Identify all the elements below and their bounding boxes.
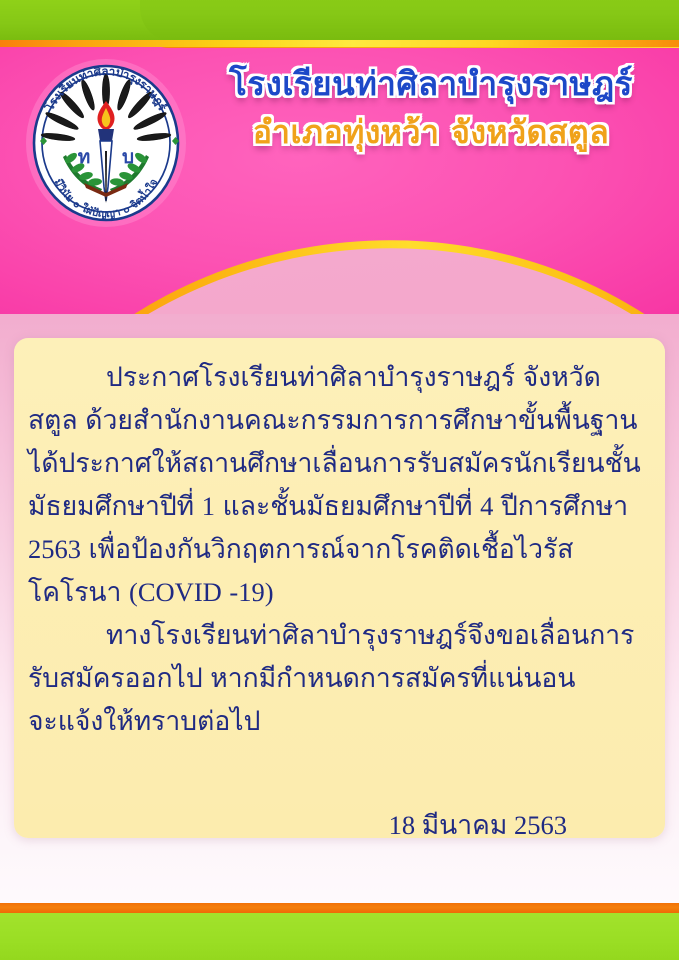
svg-text:ท: ท: [78, 146, 91, 168]
poster-root: ท บ โรงเรียนท่าศิลาบำรุงราษฎร์ มีวินัย ๐…: [0, 0, 679, 960]
district-name-subtitle: อำเภอทุ่งหว้า จังหวัดสตูล: [196, 115, 666, 151]
announcement-paragraph-2: ทางโรงเรียนท่าศิลาบำรุงราษฎร์จึงขอเลื่อน…: [28, 614, 645, 743]
announcement-paragraph-1: ประกาศโรงเรียนท่าศิลาบำรุงราษฎร์ จังหวัด…: [28, 356, 645, 614]
top-yellow-underline: [0, 40, 679, 47]
bottom-green-band: [0, 913, 679, 960]
bottom-orange-stripe: [0, 903, 679, 913]
top-green-rounded-tab: [140, 0, 679, 42]
announcement-date: 18 มีนาคม 2563: [28, 743, 645, 845]
svg-text:บ: บ: [122, 146, 134, 168]
header-title-block: โรงเรียนท่าศิลาบำรุงราษฎร์ อำเภอทุ่งหว้า…: [196, 66, 666, 151]
school-name-title: โรงเรียนท่าศิลาบำรุงราษฎร์: [196, 66, 666, 103]
announcement-card: ประกาศโรงเรียนท่าศิลาบำรุงราษฎร์ จังหวัด…: [14, 338, 665, 838]
school-seal-logo: ท บ โรงเรียนท่าศิลาบำรุงราษฎร์ มีวินัย ๐…: [22, 55, 190, 227]
announcement-body: ประกาศโรงเรียนท่าศิลาบำรุงราษฎร์ จังหวัด…: [28, 356, 645, 743]
